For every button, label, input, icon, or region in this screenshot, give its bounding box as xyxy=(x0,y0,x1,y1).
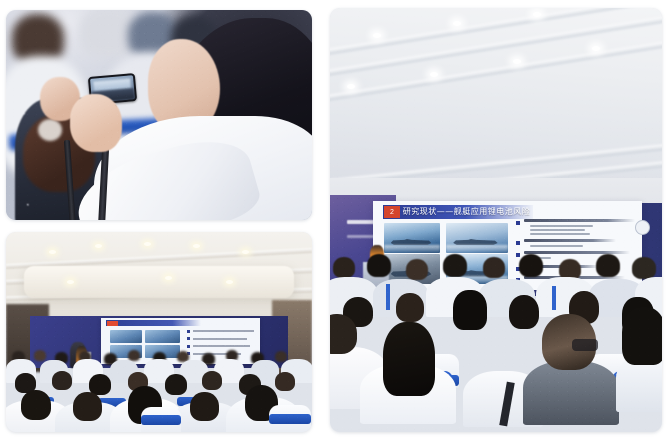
attendee-head xyxy=(202,371,222,390)
ceiling-downlight xyxy=(95,244,102,248)
attendee-head-long-hair xyxy=(622,307,662,365)
attendee-head xyxy=(443,254,467,277)
photo-panel-hall-wide[interactable] xyxy=(6,232,312,432)
slide-bullet-dot xyxy=(187,337,190,340)
slide-image-vessel xyxy=(384,223,440,252)
attendee-head xyxy=(275,372,295,391)
ceiling-downlight xyxy=(193,244,200,248)
bullet-subtext-line xyxy=(530,229,586,231)
attendee-head xyxy=(73,392,102,421)
lanyard xyxy=(386,284,390,310)
attendee-head xyxy=(406,259,428,280)
attendee-head xyxy=(21,390,51,420)
attendee-head xyxy=(128,350,140,361)
attendee-head xyxy=(52,371,72,390)
attendee-head xyxy=(596,254,620,277)
chair-sash xyxy=(141,415,181,425)
scene-stage-closeup: 2 研究现状——舰艇应用锂电池风险 xyxy=(330,8,662,432)
attendee-head-long-hair xyxy=(383,322,435,396)
audience-block-closeup xyxy=(330,254,662,432)
vessel-wake xyxy=(384,245,440,253)
hair-tie xyxy=(38,119,62,141)
bullet-dot-icon xyxy=(516,241,520,245)
bullet-subtext-line xyxy=(530,233,591,235)
ceiling-downlight xyxy=(533,12,541,17)
attendee-head xyxy=(34,350,46,361)
slide-number-badge: 2 xyxy=(384,206,400,218)
attendee-head xyxy=(367,254,391,277)
attendee-head xyxy=(396,293,424,322)
slide-bullet-dot xyxy=(187,330,190,333)
attendee-head xyxy=(165,374,187,395)
attendee-head xyxy=(190,392,219,421)
photo-panel-stage-closeup[interactable]: 2 研究现状——舰艇应用锂电池风险 xyxy=(330,8,662,432)
ceiling-cove xyxy=(24,266,293,298)
attendee-head xyxy=(275,351,287,362)
attendee-shoulders xyxy=(523,361,619,425)
scene-audience-filming xyxy=(6,10,312,220)
slide-number-badge xyxy=(107,321,118,326)
bullet-subtext-line xyxy=(530,245,583,247)
ceiling-downlight xyxy=(144,242,151,246)
photo-panel-audience-filming[interactable] xyxy=(6,10,312,220)
bullet-text-line xyxy=(524,239,616,242)
attendee-hand-holding-phone xyxy=(70,94,122,152)
attendee-head-long-hair xyxy=(453,290,487,330)
attendee-head xyxy=(519,254,543,277)
slide-image xyxy=(145,330,180,343)
audience-block-wide xyxy=(6,348,312,432)
ceiling-downlight xyxy=(49,250,56,254)
slide-title-bar xyxy=(106,320,201,326)
slide-bullet-line xyxy=(193,330,253,332)
slide-image-vessel xyxy=(446,223,508,252)
ceiling-downlight xyxy=(430,72,438,77)
attendee-head xyxy=(333,257,355,278)
bullet-subtext-line xyxy=(530,225,593,227)
scene-hall-wide xyxy=(6,232,312,432)
attendee-head xyxy=(483,257,505,278)
bullet-dot-icon xyxy=(516,221,520,225)
ceiling-downlight xyxy=(513,59,521,64)
slide-image xyxy=(110,330,142,343)
chair-sash xyxy=(269,414,311,424)
attendee-head xyxy=(509,295,539,329)
lanyard xyxy=(552,286,556,310)
attendee-head xyxy=(330,314,357,354)
slide-bullet-line xyxy=(193,338,247,340)
vessel-wake xyxy=(446,245,508,253)
eyeglasses-icon xyxy=(572,339,598,351)
bullet-text-line xyxy=(524,219,635,222)
slide-title: 研究现状——舰艇应用锂电池风险 xyxy=(403,206,531,217)
slide-bullet-item xyxy=(516,219,637,225)
ceiling-downlight xyxy=(242,250,249,254)
ceiling-downlight xyxy=(453,21,461,26)
photo-collage: 2 研究现状——舰艇应用锂电池风险 xyxy=(0,0,670,441)
slide-bullet-line xyxy=(193,345,250,347)
